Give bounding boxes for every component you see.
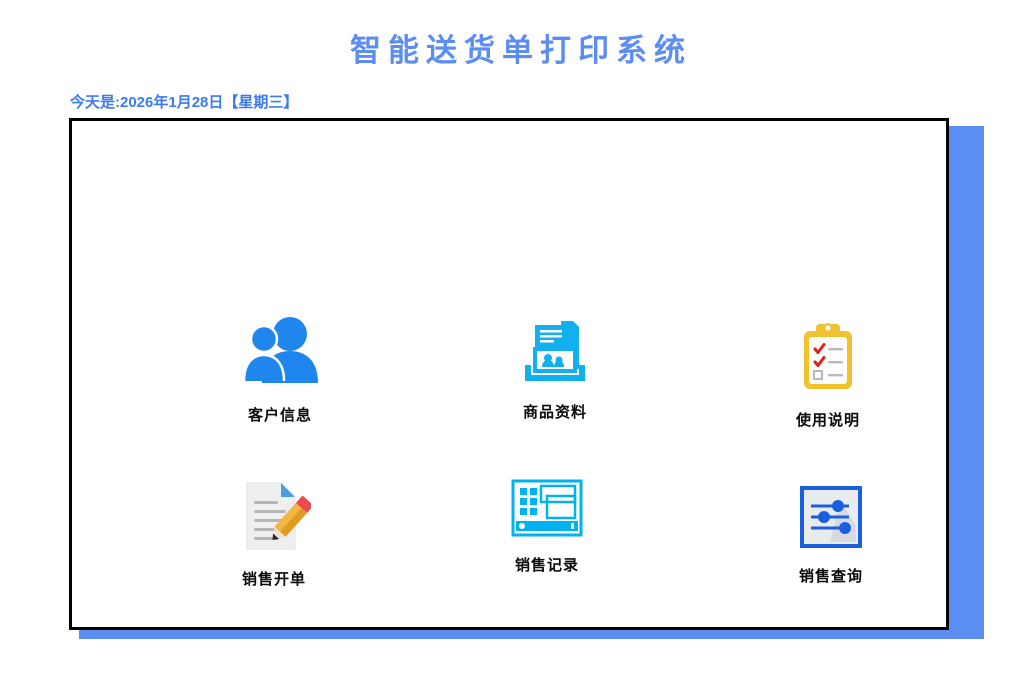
- main-panel: 客户信息 商品资料: [69, 118, 949, 630]
- clipboard-check-icon: [762, 321, 894, 398]
- menu-item-label: 使用说明: [762, 409, 894, 430]
- menu-item-label: 商品资料: [489, 401, 621, 422]
- menu-item-label: 销售查询: [765, 565, 897, 586]
- menu-item-product-data[interactable]: 商品资料: [489, 317, 621, 422]
- menu-item-label: 销售开单: [208, 568, 340, 589]
- menu-item-sales-invoice[interactable]: 销售开单: [208, 479, 340, 589]
- page-title: 智能送货单打印系统: [0, 25, 1035, 70]
- menu-item-label: 客户信息: [214, 404, 346, 425]
- document-pencil-icon: [208, 479, 340, 558]
- menu-item-instructions[interactable]: 使用说明: [762, 321, 894, 430]
- menu-item-sales-records[interactable]: 销售记录: [481, 479, 613, 575]
- sliders-icon: [765, 486, 897, 553]
- window-table-icon: [481, 479, 613, 542]
- menu-item-customer-info[interactable]: 客户信息: [214, 317, 346, 425]
- current-date-label: 今天是:2026年1月28日【星期三】: [70, 91, 298, 112]
- menu-item-label: 销售记录: [481, 554, 613, 575]
- document-card-icon: [489, 317, 621, 392]
- users-icon: [214, 317, 346, 392]
- menu-item-sales-query[interactable]: 销售查询: [765, 486, 897, 586]
